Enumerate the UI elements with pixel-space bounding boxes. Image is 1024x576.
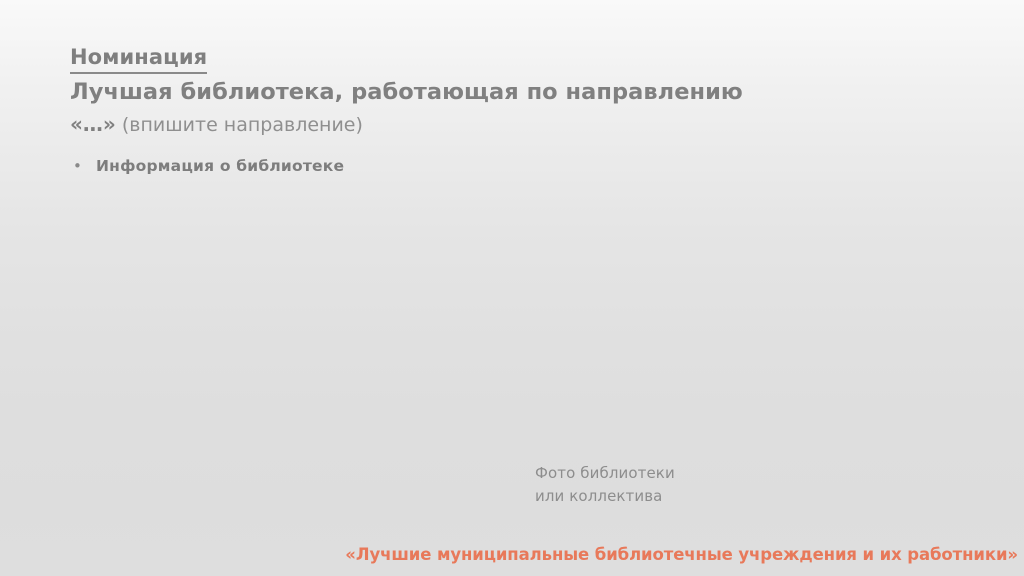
bullet-list: • Информация о библиотеке (70, 155, 930, 178)
slide-canvas: Номинация Лучшая библиотека, работающая … (0, 0, 1024, 576)
bullet-dot-icon: • (70, 155, 96, 178)
photo-placeholder-caption: Фото библиотеки или коллектива (535, 462, 675, 507)
photo-placeholder-line-1: Фото библиотеки (535, 462, 675, 485)
title-subline: «…» (впишите направление) (70, 111, 970, 139)
photo-placeholder-line-2: или коллектива (535, 485, 675, 508)
list-item-label: Информация о библиотеке (96, 155, 344, 178)
direction-hint: (впишите направление) (122, 114, 363, 136)
footer-banner: «Лучшие муниципальные библиотечные учреж… (38, 544, 1018, 568)
nomination-heading: Номинация (70, 44, 207, 74)
list-item: • Информация о библиотеке (70, 155, 930, 178)
page-title: Лучшая библиотека, работающая по направл… (70, 78, 970, 108)
direction-placeholder: «…» (70, 112, 116, 136)
title-block: Номинация Лучшая библиотека, работающая … (70, 44, 970, 138)
